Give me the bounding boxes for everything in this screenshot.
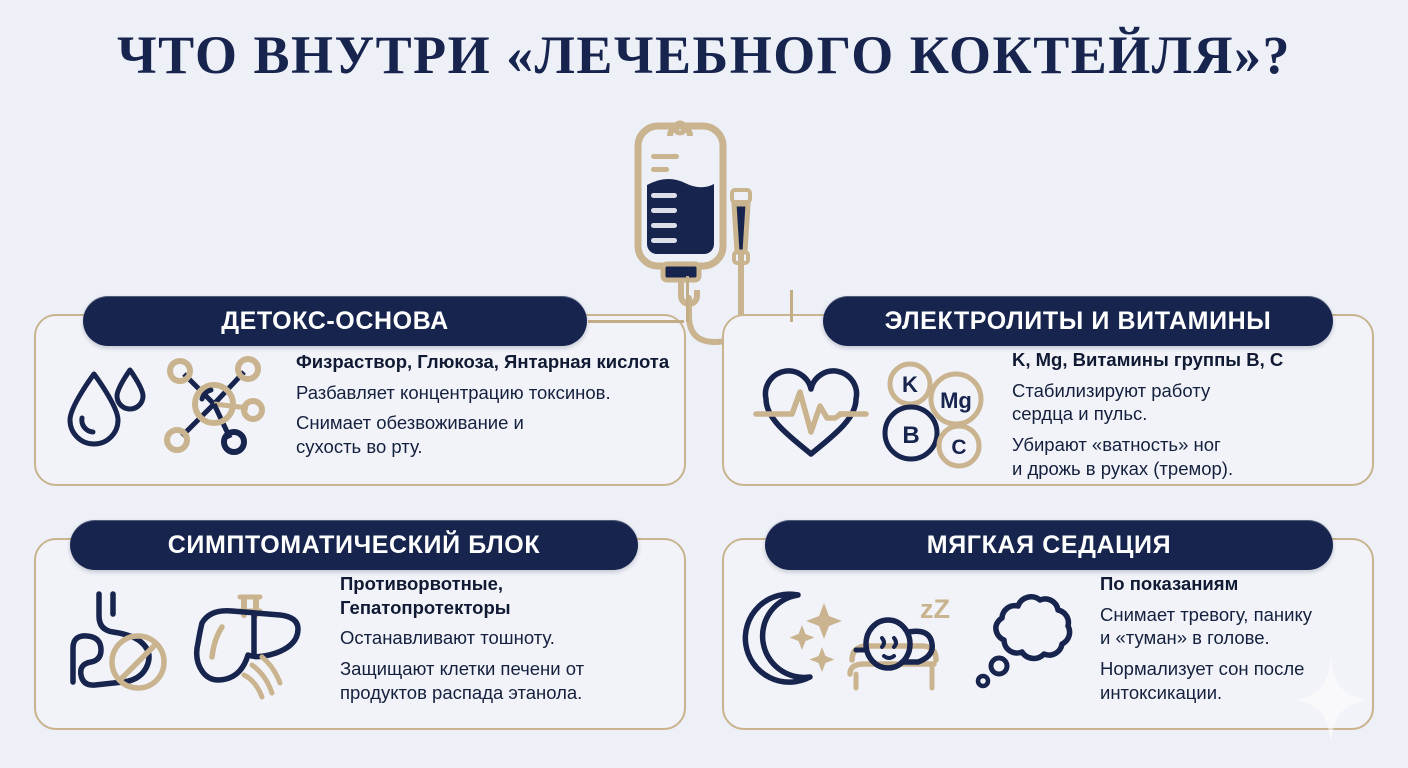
card-electrolytes-line-1: Стабилизируют работу — [1012, 379, 1283, 403]
card-detox-line-3: сухость во рту. — [296, 435, 669, 459]
card-symptomatic-lead-2: Гепатопротекторы — [340, 596, 584, 620]
card-sedation-line-4: интоксикации. — [1100, 681, 1312, 705]
card-sedation-badge[interactable]: МЯГКАЯ СЕДАЦИЯ — [765, 520, 1333, 570]
connector-line-left — [588, 320, 684, 323]
molecule-icon — [160, 352, 268, 456]
vitamin-circles-icon: K Mg B C — [880, 356, 988, 472]
card-detox-content: Физраствор, Глюкоза, Янтарная кислота Ра… — [60, 350, 680, 459]
thought-cloud-icon — [974, 584, 1078, 692]
water-drop-icon — [60, 356, 152, 452]
card-sedation-texts: По показаниям Снимает тревогу, панику и … — [1100, 572, 1312, 704]
card-electrolytes-line-2: сердца и пульс. — [1012, 402, 1283, 426]
card-electrolytes-line-4: и дрожь в руках (тремор). — [1012, 457, 1283, 481]
vitamin-label-mg: Mg — [940, 388, 972, 413]
connector-line-down-left — [686, 276, 689, 322]
card-symptomatic-badge[interactable]: СИМПТОМАТИЧЕСКИЙ БЛОК — [70, 520, 638, 570]
card-detox-icons — [60, 352, 268, 456]
zzz-label: zZ — [920, 594, 950, 624]
sleeping-person-icon: zZ — [848, 582, 968, 694]
card-symptomatic-line-3: продуктов распада этанола. — [340, 681, 584, 705]
vitamin-label-b: B — [902, 422, 919, 449]
card-electrolytes-line-3: Убирают «ватность» ног — [1012, 433, 1283, 457]
card-sedation-content: zZ — [740, 572, 1370, 704]
stomach-blocked-icon — [58, 582, 176, 694]
liver-icon — [182, 581, 310, 695]
infographic-canvas: ЧТО ВНУТРИ «ЛЕЧЕБНОГО КОКТЕЙЛЯ»? — [0, 0, 1408, 768]
vitamin-label-k: K — [902, 372, 918, 397]
card-detox-line-1: Разбавляет концентрацию токсинов. — [296, 381, 669, 405]
page-title: ЧТО ВНУТРИ «ЛЕЧЕБНОГО КОКТЕЙЛЯ»? — [0, 24, 1408, 86]
card-symptomatic-line-1: Останавливают тошноту. — [340, 626, 584, 650]
card-sedation-icons: zZ — [740, 582, 1078, 694]
card-electrolytes-texts: K, Mg, Витамины группы B, C Стабилизирую… — [1012, 348, 1283, 480]
card-symptomatic-lead-1: Противорвотные, — [340, 572, 584, 596]
card-electrolytes-icons: K Mg B C — [752, 356, 988, 472]
card-sedation-line-2: и «туман» в голове. — [1100, 626, 1312, 650]
card-electrolytes-content: K Mg B C K, Mg, Витамины группы B, C Ста… — [752, 348, 1372, 480]
card-electrolytes-lead: K, Mg, Витамины группы B, C — [1012, 348, 1283, 372]
card-detox-line-2: Снимает обезвоживание и — [296, 411, 669, 435]
card-sedation-line-3: Нормализует сон после — [1100, 657, 1312, 681]
card-symptomatic-icons — [58, 581, 310, 695]
connector-line-down-right — [790, 290, 793, 322]
card-sedation-line-1: Снимает тревогу, панику — [1100, 603, 1312, 627]
vitamin-label-c: C — [951, 436, 966, 459]
card-symptomatic-texts: Противорвотные, Гепатопротекторы Останав… — [340, 572, 584, 704]
heart-pulse-icon — [752, 366, 870, 462]
card-symptomatic-line-2: Защищают клетки печени от — [340, 657, 584, 681]
card-detox-texts: Физраствор, Глюкоза, Янтарная кислота Ра… — [296, 350, 669, 459]
card-symptomatic-content: Противорвотные, Гепатопротекторы Останав… — [58, 572, 680, 704]
card-electrolytes-badge[interactable]: ЭЛЕКТРОЛИТЫ И ВИТАМИНЫ — [823, 296, 1333, 346]
card-detox-lead: Физраствор, Глюкоза, Янтарная кислота — [296, 350, 669, 374]
card-detox-badge[interactable]: ДЕТОКС-ОСНОВА — [83, 296, 587, 346]
iv-drip-bag-icon — [608, 112, 848, 332]
card-sedation-lead: По показаниям — [1100, 572, 1312, 596]
crescent-moon-icon — [740, 583, 844, 693]
